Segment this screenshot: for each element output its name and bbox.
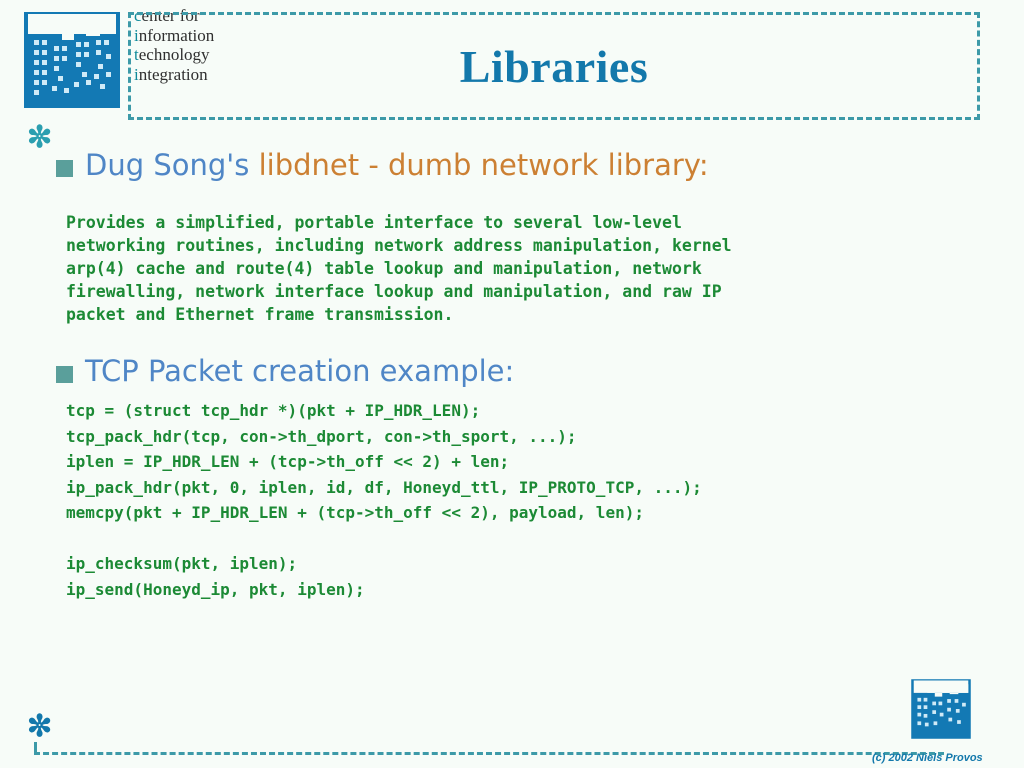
bullet-emphasis-text: libdnet - dumb network library: [259,148,709,182]
copyright-notice: (c) 2002 Niels Provos [872,752,983,764]
libdnet-description: Provides a simplified, portable interfac… [66,211,1024,326]
bullet-lead-text: TCP Packet creation example: [85,354,514,388]
slide-content: Dug Song's libdnet - dumb network librar… [0,132,1024,602]
bullet-square-icon [56,160,73,177]
bullet-item-label: TCP Packet creation example: [85,352,514,390]
footer-divider-tick [34,742,37,754]
bullet-item-tcp-example: TCP Packet creation example: [56,352,1024,390]
code-sample: tcp = (struct tcp_hdr *)(pkt + IP_HDR_LE… [66,398,1024,602]
slide-header: center for information technology integr… [0,0,1024,132]
footer-divider [34,752,944,755]
asterisk-icon: ✼ [27,712,52,742]
bullet-item-label: Dug Song's libdnet - dumb network librar… [85,146,709,184]
page-title: Libraries [128,12,980,120]
bullet-lead-text: Dug Song's [85,148,259,182]
citi-logo-icon-small [910,678,972,740]
citi-logo-icon [22,10,122,110]
bullet-square-icon [56,366,73,383]
bullet-item-libdnet: Dug Song's libdnet - dumb network librar… [56,146,1024,184]
